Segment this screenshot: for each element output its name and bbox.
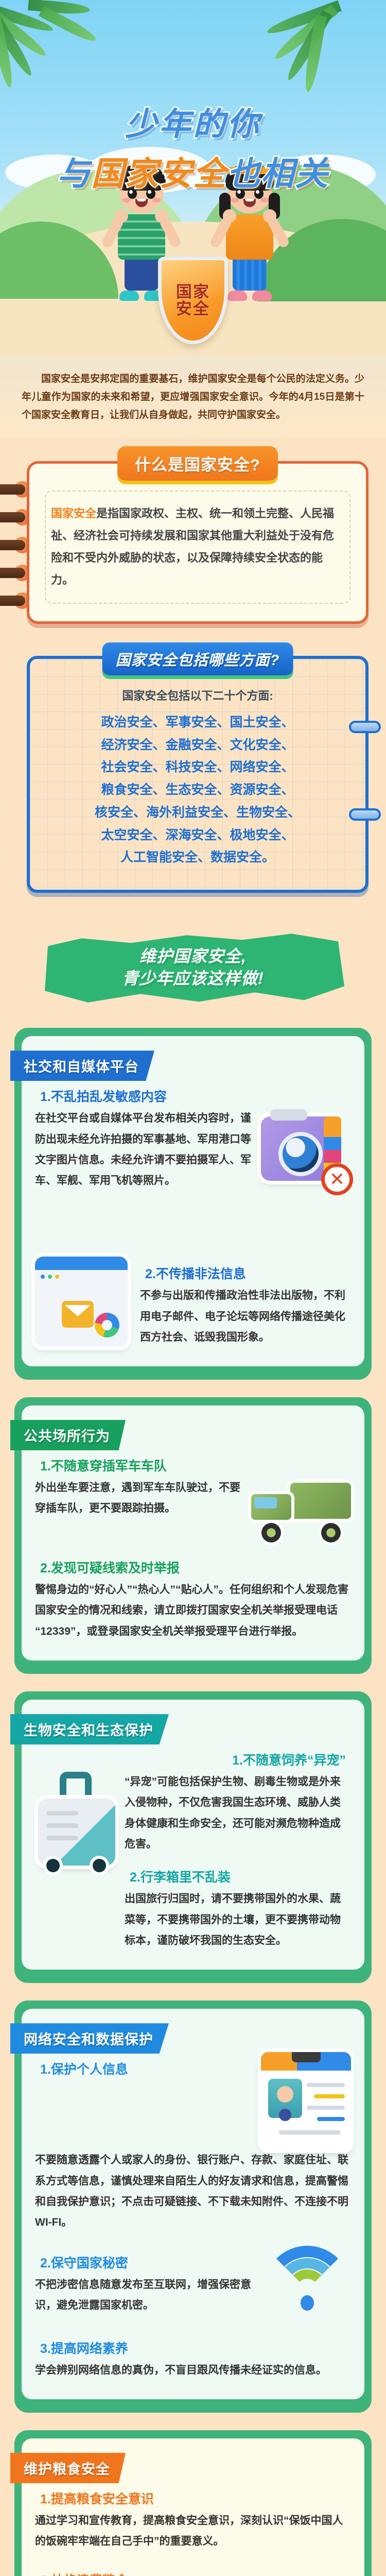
hero-title-line2-b: 也相关 <box>227 155 329 192</box>
public-item2-sub: 2.发现可疑线索及时举报 <box>35 1558 185 1577</box>
section-cyber-security: 网络安全和数据保护 1.保护个人信息 不要随意透露个人或家人的身份、银行账户、存… <box>14 2001 372 2413</box>
notebook-rings <box>0 484 25 606</box>
scope-line: 政治安全、军事安全、国土安全、 <box>43 711 352 734</box>
binder-clip-bottom <box>349 808 381 821</box>
hero-title-line1: 少年的你 <box>0 98 386 144</box>
public-item2-para: 警惕身边的“好心人”“热心人”“贴心人”。任何组织和个人发现危害国家安全的情况和… <box>35 1580 351 1642</box>
food-item2-sub: 2.杜绝浪费粮食 <box>35 2570 133 2576</box>
boy-shorts <box>125 260 159 291</box>
cyber-item2-para: 不把涉密信息随意发布至互联网，增强保密意识，避免泄露国家机密。 <box>35 2275 256 2316</box>
food-item1-para: 通过学习和宣传教育，提高粮食安全意识，深刻认识“保饭中国人的饭碗牢牢端在自己手中… <box>35 2511 351 2552</box>
scope-section: 国家安全包括哪些方面? 国家安全包括以下二十个方面: 政治安全、军事安全、国土安… <box>0 629 386 898</box>
bio-item1-sub: 1.不随意饲养“异宠” <box>227 1750 351 1769</box>
intro-section: 国家安全是安邦定国的重要基石，维护国家安全是每个公民的法定义务。少年儿童作为国家… <box>0 361 386 437</box>
browser-window-icon <box>35 1257 128 1347</box>
boy-shoes <box>119 291 164 301</box>
public-places-card: 公共场所行为 1.不随意穿插军车车队 外出坐车要注意，遇到军车车队驶过，不要穿插… <box>22 1405 364 1660</box>
scope-line: 社会安全、科技安全、网络安全、 <box>43 756 352 779</box>
bio-item2-sub: 2.行李箱里不乱装 <box>125 1867 236 1886</box>
section-food-security: 维护粮食安全 1.提高粮食安全意识 通过学习和宣传教育，提高粮食安全意识，深刻认… <box>14 2430 372 2576</box>
what-is-highlight: 国家安全 <box>51 507 96 520</box>
girl-shoes <box>227 291 272 301</box>
boy-arm-right <box>159 216 183 249</box>
banner-line2: 青少年应该这样做! <box>122 968 264 990</box>
cyber-item1-para: 不要随意透露个人或家人的身份、银行账户、存款、家庭住址、联系方式等信息，谨慎处理… <box>35 2150 351 2233</box>
shield-line1: 国家 <box>176 283 210 300</box>
section-tag-public-places: 公共场所行为 <box>10 1420 126 1450</box>
blue-grid-card: 国家安全包括哪些方面? 国家安全包括以下二十个方面: 政治安全、军事安全、国土安… <box>27 656 369 893</box>
public-item1-sub: 1.不随意穿插军车车队 <box>35 1456 172 1475</box>
hero-title-line2-a: 与 <box>57 155 91 192</box>
section-tag-social-media: 社交和自媒体平台 <box>10 1050 154 1081</box>
scope-heading: 国家安全包括哪些方面? <box>102 642 293 675</box>
id-card-icon <box>261 2052 351 2150</box>
hero-title-line2-orange: 国家安全 <box>91 155 227 192</box>
bio-item1-para: “异宠”可能包括保护生物、剧毒生物或是外来入侵物种，不仅危害我国生态环境、威胁人… <box>125 1772 351 1855</box>
cyber-security-card: 网络安全和数据保护 1.保护个人信息 不要随意透露个人或家人的身份、银行账户、存… <box>22 2009 364 2399</box>
shield-line2: 安全 <box>176 300 210 317</box>
binder-clip-top <box>349 721 381 733</box>
girl-shirt <box>226 214 273 260</box>
scope-line: 核安全、海外利益安全、生物安全、 <box>43 802 352 824</box>
cyber-item2-sub: 2.保守国家秘密 <box>35 2253 133 2272</box>
hero-title-line2: 与国家安全也相关 <box>0 147 386 195</box>
bio-item2-para: 出国旅行归国时，请不要携带国外的水果、蔬菜等，不要携带国外的土壤，更不要携带动物… <box>125 1889 351 1951</box>
scope-line: 经济安全、金融安全、文化安全、 <box>43 734 352 757</box>
girl-arm-right <box>267 216 291 249</box>
scope-lead: 国家安全包括以下二十个方面: <box>43 687 352 703</box>
food-item1-sub: 1.提高粮食安全意识 <box>35 2489 159 2507</box>
hero-title: 少年的你 与国家安全也相关 <box>0 98 386 195</box>
section-public-places: 公共场所行为 1.不随意穿插军车车队 外出坐车要注意，遇到军车车队驶过，不要穿插… <box>14 1397 372 1674</box>
public-item1-para: 外出坐车要注意，遇到军车车队驶过，不要穿插车队，更不要跟踪拍摄。 <box>35 1478 243 1519</box>
section-social-media: 社交和自媒体平台 1.不乱拍乱发敏感内容 在社交平台或自媒体平台发布相关内容时，… <box>14 1028 372 1380</box>
cyber-item3-para: 学会辨别网络信息的真伪，不盲目跟风传播未经证实的信息。 <box>35 2360 351 2381</box>
what-is-section: 什么是国家安全? 国家安全是指国家政权、主权、统一和领土完整、人民福祉、经济社会… <box>0 437 386 629</box>
military-truck-icon <box>248 1481 351 1543</box>
biosecurity-card: 生物安全和生态保护 1.不随意饲养“异宠” “异宠”可能包括保护生物、剧毒生物或… <box>22 1700 364 1970</box>
banner-line1: 维护国家安全, <box>139 945 247 968</box>
boy-shirt <box>118 214 165 260</box>
social-item1-para: 在社交平台或自媒体平台发布相关内容时，谨防出现未经允许拍摄的军事基地、军用港口等… <box>35 1108 254 1191</box>
scope-list: 政治安全、军事安全、国土安全、 经济安全、金融安全、文化安全、 社会安全、科技安… <box>43 711 352 869</box>
section-biosecurity: 生物安全和生态保护 1.不随意饲养“异宠” “异宠”可能包括保护生物、剧毒生物或… <box>14 1691 372 1983</box>
social-item2-sub: 2.不传播非法信息 <box>140 1264 251 1282</box>
orange-notebook-card: 什么是国家安全? 国家安全是指国家政权、主权、统一和领土完整、人民福祉、经济社会… <box>27 461 369 624</box>
prohibited-icon: ✕ <box>321 1163 353 1195</box>
wifi-icon <box>264 2246 351 2328</box>
section-tag-biosecurity: 生物安全和生态保护 <box>10 1714 169 1744</box>
what-is-text: 国家安全是指国家政权、主权、统一和领土完整、人民福祉、经济社会可持续发展和国家其… <box>51 503 344 591</box>
suitcase-icon <box>35 1772 117 1867</box>
what-is-body: 国家安全是指国家政权、主权、统一和领土完整、人民福祉、经济社会可持续发展和国家其… <box>45 490 350 604</box>
call-to-action-banner: 维护国家安全, 青少年应该这样做! <box>0 898 386 1028</box>
what-is-heading: 什么是国家安全? <box>117 446 278 481</box>
scope-line: 太空安全、深海安全、极地安全、 <box>43 824 352 847</box>
cyber-item1-sub: 1.保护个人信息 <box>35 2059 133 2078</box>
social-media-card: 社交和自媒体平台 1.不乱拍乱发敏感内容 在社交平台或自媒体平台发布相关内容时，… <box>22 1036 364 1366</box>
intro-paragraph: 国家安全是安邦定国的重要基石，维护国家安全是每个公民的法定义务。少年儿童作为国家… <box>22 370 364 424</box>
social-item2-para: 不参与出版和传播政治性非法出版物，不利用电子邮件、电子论坛等网络传播途径美化西方… <box>140 1285 351 1348</box>
boy-arm-left <box>101 216 125 249</box>
section-tag-food-security: 维护粮食安全 <box>10 2453 126 2483</box>
cyber-item3-sub: 3.提高网络素养 <box>35 2338 133 2357</box>
scope-line: 粮食安全、生态安全、资源安全、 <box>43 779 352 802</box>
hero-banner: 少年的你 与国家安全也相关 <box>0 0 386 361</box>
section-tag-cyber-security: 网络安全和数据保护 <box>10 2023 169 2054</box>
girl-arm-left <box>209 216 233 249</box>
girl-skirt <box>233 260 267 291</box>
social-item1-sub: 1.不乱拍乱发敏感内容 <box>35 1087 172 1105</box>
scope-line: 人工智能安全、数据安全。 <box>43 846 352 869</box>
food-security-card: 维护粮食安全 1.提高粮食安全意识 通过学习和宣传教育，提高粮食安全意识，深刻认… <box>22 2438 364 2576</box>
